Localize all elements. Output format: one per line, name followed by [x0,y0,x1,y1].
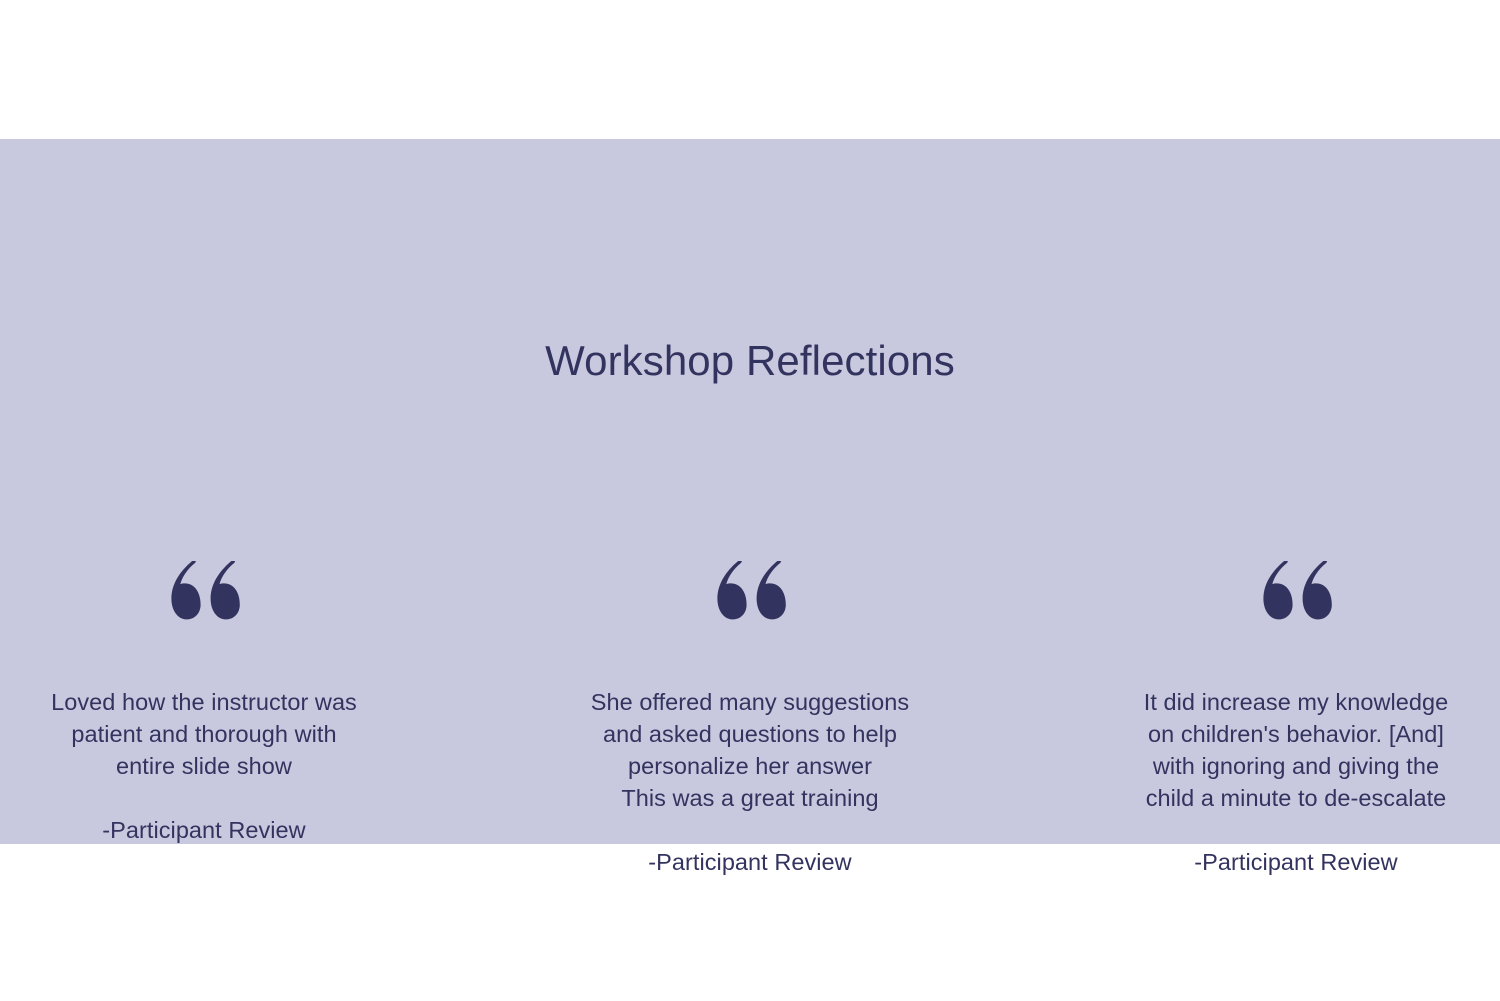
testimonial-card-2: She offered many suggestions and asked q… [546,539,954,878]
double-quote-open-icon [712,561,788,623]
testimonial-quote: She offered many suggestions and asked q… [591,686,909,814]
testimonial-card-1: Loved how the instructor was patient and… [0,539,408,846]
double-quote-open-icon [166,561,242,623]
page-title: Workshop Reflections [0,336,1500,386]
testimonial-quote: It did increase my knowledge on children… [1144,686,1448,814]
testimonial-attribution: -Participant Review [102,814,305,846]
testimonial-card-3: It did increase my knowledge on children… [1092,539,1500,878]
testimonial-row: Loved how the instructor was patient and… [0,539,1500,878]
testimonial-quote: Loved how the instructor was patient and… [51,686,357,782]
double-quote-open-icon [1258,561,1334,623]
slide-canvas: Workshop Reflections Loved how the instr… [0,0,1500,1001]
testimonial-attribution: -Participant Review [1194,846,1397,878]
testimonial-attribution: -Participant Review [648,846,851,878]
reflections-panel: Workshop Reflections Loved how the instr… [0,139,1500,844]
